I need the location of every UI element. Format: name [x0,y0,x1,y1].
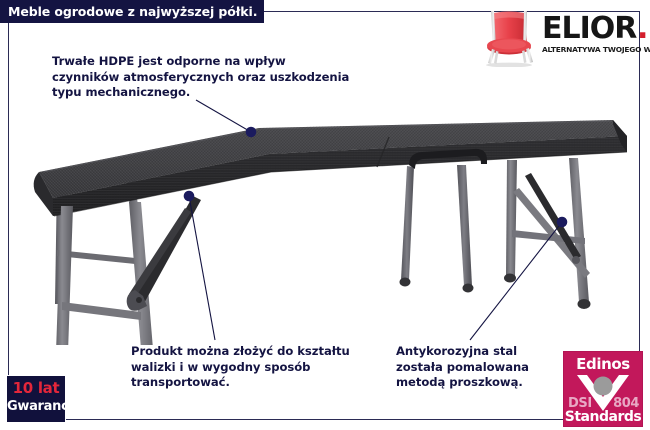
callout-folding-text: Produkt można złożyć do kształtu walizki… [131,344,381,391]
logo-wordmark: ELIOR.PL ALTERNATYWA TWOJEGO WNĘTRZA [542,14,650,54]
logo-domain: .PL [637,11,650,46]
edinos-title: Edinos [563,355,643,373]
bench-seat [34,120,627,216]
page-title: Meble ogrodowe z najwyższej półki. [0,0,264,23]
promo-banner: Meble ogrodowe z najwyższej półki. [0,0,650,430]
edinos-badge: Edinos DSI 804 Standards [563,351,643,427]
product-photo [9,80,639,345]
warranty-badge: 10 lat Gwarancji [6,375,66,423]
warranty-label: Gwarancji [7,398,65,415]
brand-logo[interactable]: ELIOR.PL ALTERNATYWA TWOJEGO WNĘTRZA [476,8,642,70]
warranty-years: 10 lat [7,379,65,398]
callout-hdpe-text: Trwałe HDPE jest odporne na wpływ czynni… [52,54,392,101]
callout-steel-text: Antykorozyjna stal została pomalowana me… [396,344,586,391]
red-chair-icon [478,9,540,67]
logo-name-row: ELIOR.PL [542,14,650,44]
logo-tagline: ALTERNATYWA TWOJEGO WNĘTRZA [542,45,650,54]
logo-name: ELIOR [542,11,637,46]
edinos-standards: Standards [563,409,643,425]
